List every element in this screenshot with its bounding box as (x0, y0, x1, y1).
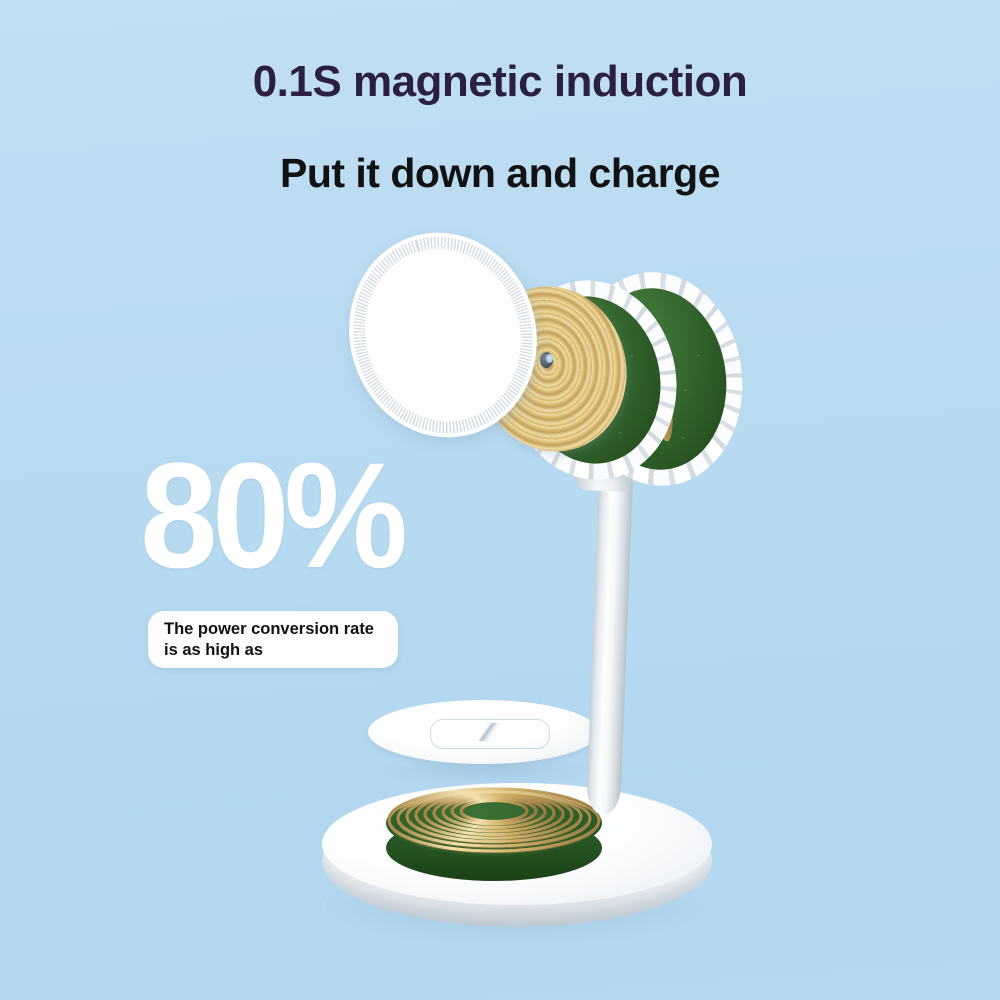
base-coil-svg (382, 778, 606, 858)
caption-text: The power conversion rate is as high as (164, 619, 389, 661)
support-pole (586, 455, 634, 816)
page-title-primary: 0.1S magnetic induction (0, 57, 1000, 107)
coil-center-highlight (546, 354, 553, 363)
caption-line-1: The power conversion (164, 620, 339, 638)
product-promo-image: 0.1S magnetic induction Put it down and … (0, 0, 1000, 1000)
conversion-rate-caption: The power conversion rate is as high as (148, 611, 398, 668)
page-title-secondary: Put it down and charge (0, 150, 1000, 197)
base-induction-coil (382, 778, 606, 858)
faceplate-inner-surface (345, 230, 541, 440)
conversion-rate-value: 80% (140, 440, 402, 590)
plate-emboss-line (448, 723, 530, 741)
